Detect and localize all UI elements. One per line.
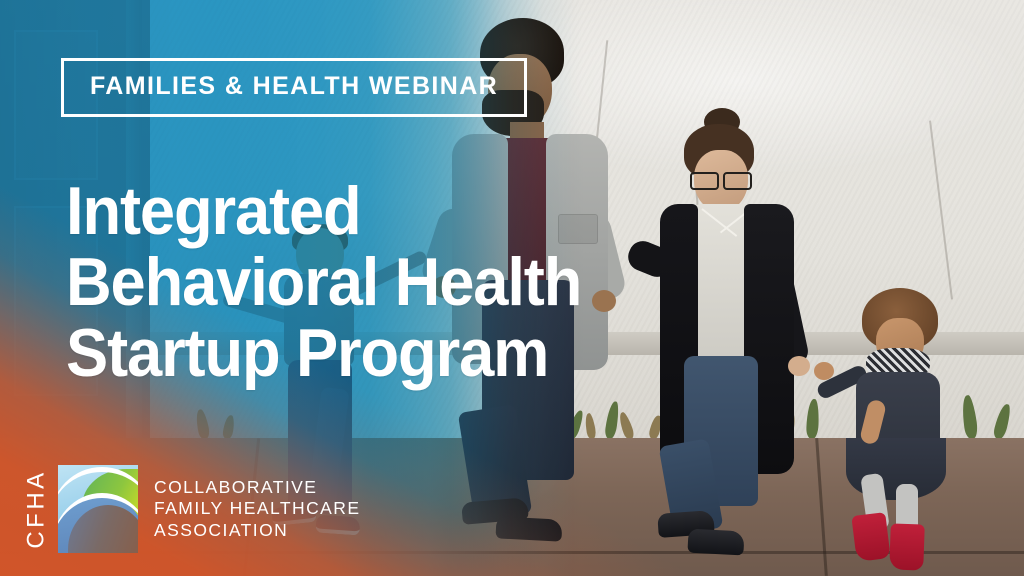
webinar-promo-banner: FAMILIES & HEALTH WEBINAR Integrated Beh…: [0, 0, 1024, 576]
eyebrow-label: FAMILIES & HEALTH WEBINAR: [90, 74, 498, 99]
headline-line-3: Startup Program: [66, 318, 581, 389]
cfha-name-line-1: COLLABORATIVE: [154, 477, 361, 499]
eyebrow-label-box: FAMILIES & HEALTH WEBINAR: [61, 58, 527, 117]
cfha-name-line-3: ASSOCIATION: [154, 520, 361, 542]
cfha-name-line-2: FAMILY HEALTHCARE: [154, 498, 361, 520]
page-title: Integrated Behavioral Health Startup Pro…: [66, 176, 581, 389]
cfha-logo-mark-icon: [58, 465, 138, 553]
cfha-acronym-vertical: CFHA: [22, 461, 52, 557]
cfha-wordmark: COLLABORATIVE FAMILY HEALTHCARE ASSOCIAT…: [154, 477, 361, 542]
headline-line-1: Integrated: [66, 176, 581, 247]
headline-line-2: Behavioral Health: [66, 247, 581, 318]
cfha-acronym-text: CFHA: [23, 469, 51, 548]
cfha-logo: CFHA COLLABORATIVE FAMILY HEALTHCARE ASS…: [22, 460, 361, 558]
